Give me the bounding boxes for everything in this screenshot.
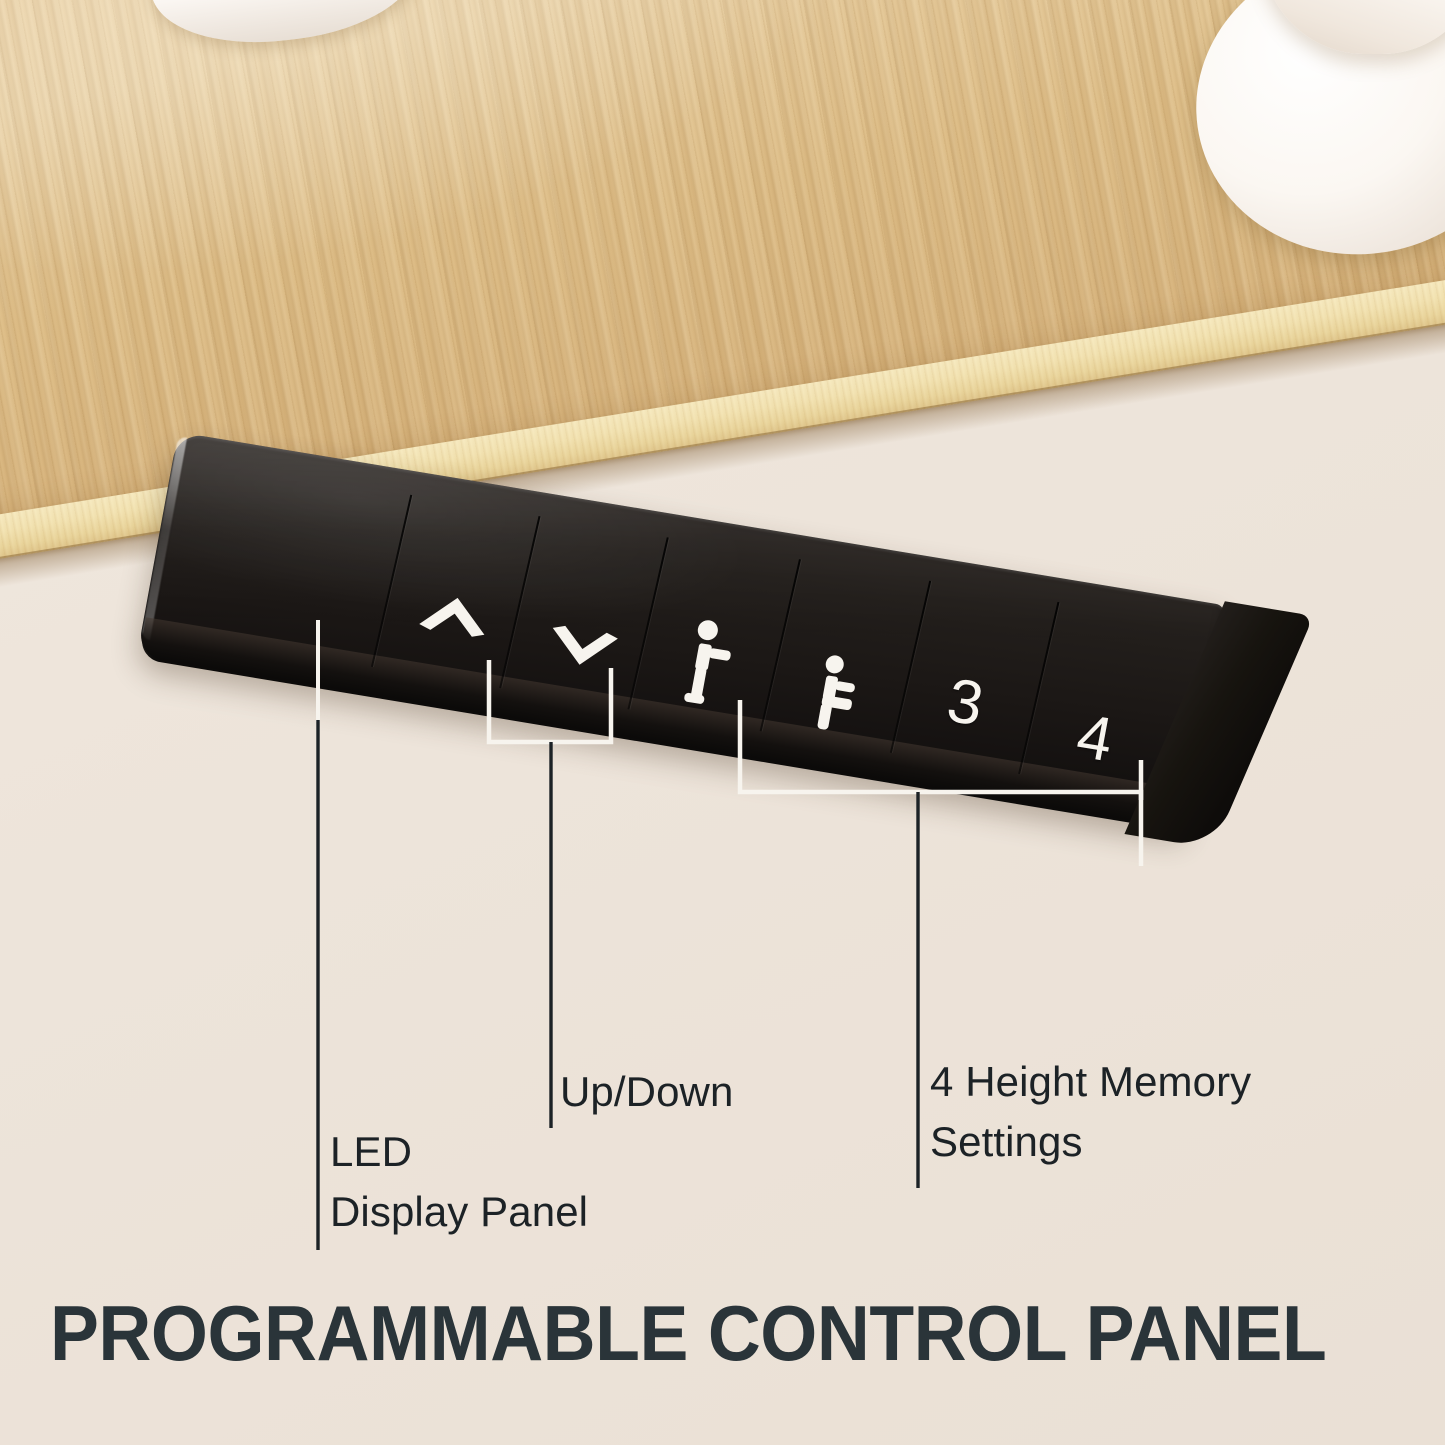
button-separator — [1018, 602, 1059, 774]
led-display-icon[interactable] — [155, 454, 403, 671]
sitting-person-icon[interactable] — [806, 652, 870, 739]
page-title: PROGRAMMABLE CONTROL PANEL — [50, 1288, 1314, 1379]
control-panel[interactable]: 3 4 — [178, 432, 1268, 902]
button-separator — [627, 537, 668, 709]
callout-led-display-panel: LED Display Panel — [330, 1122, 588, 1241]
button-separator — [890, 581, 931, 753]
button-separator — [499, 516, 540, 688]
callout-up-down: Up/Down — [560, 1062, 733, 1122]
product-marketing-image: 3 4 LED Display Panel Up/Down 4 Height M… — [0, 0, 1445, 1445]
number-4-icon[interactable]: 4 — [1072, 706, 1117, 773]
callout-height-memory-settings: 4 Height Memory Settings — [930, 1052, 1310, 1171]
number-3-icon[interactable]: 3 — [942, 670, 987, 737]
button-separator — [760, 559, 801, 731]
control-panel-body: 3 4 — [137, 432, 1226, 830]
chevron-up-icon[interactable] — [414, 586, 495, 641]
standing-person-icon[interactable] — [678, 617, 741, 709]
chevron-down-icon[interactable] — [542, 621, 623, 676]
